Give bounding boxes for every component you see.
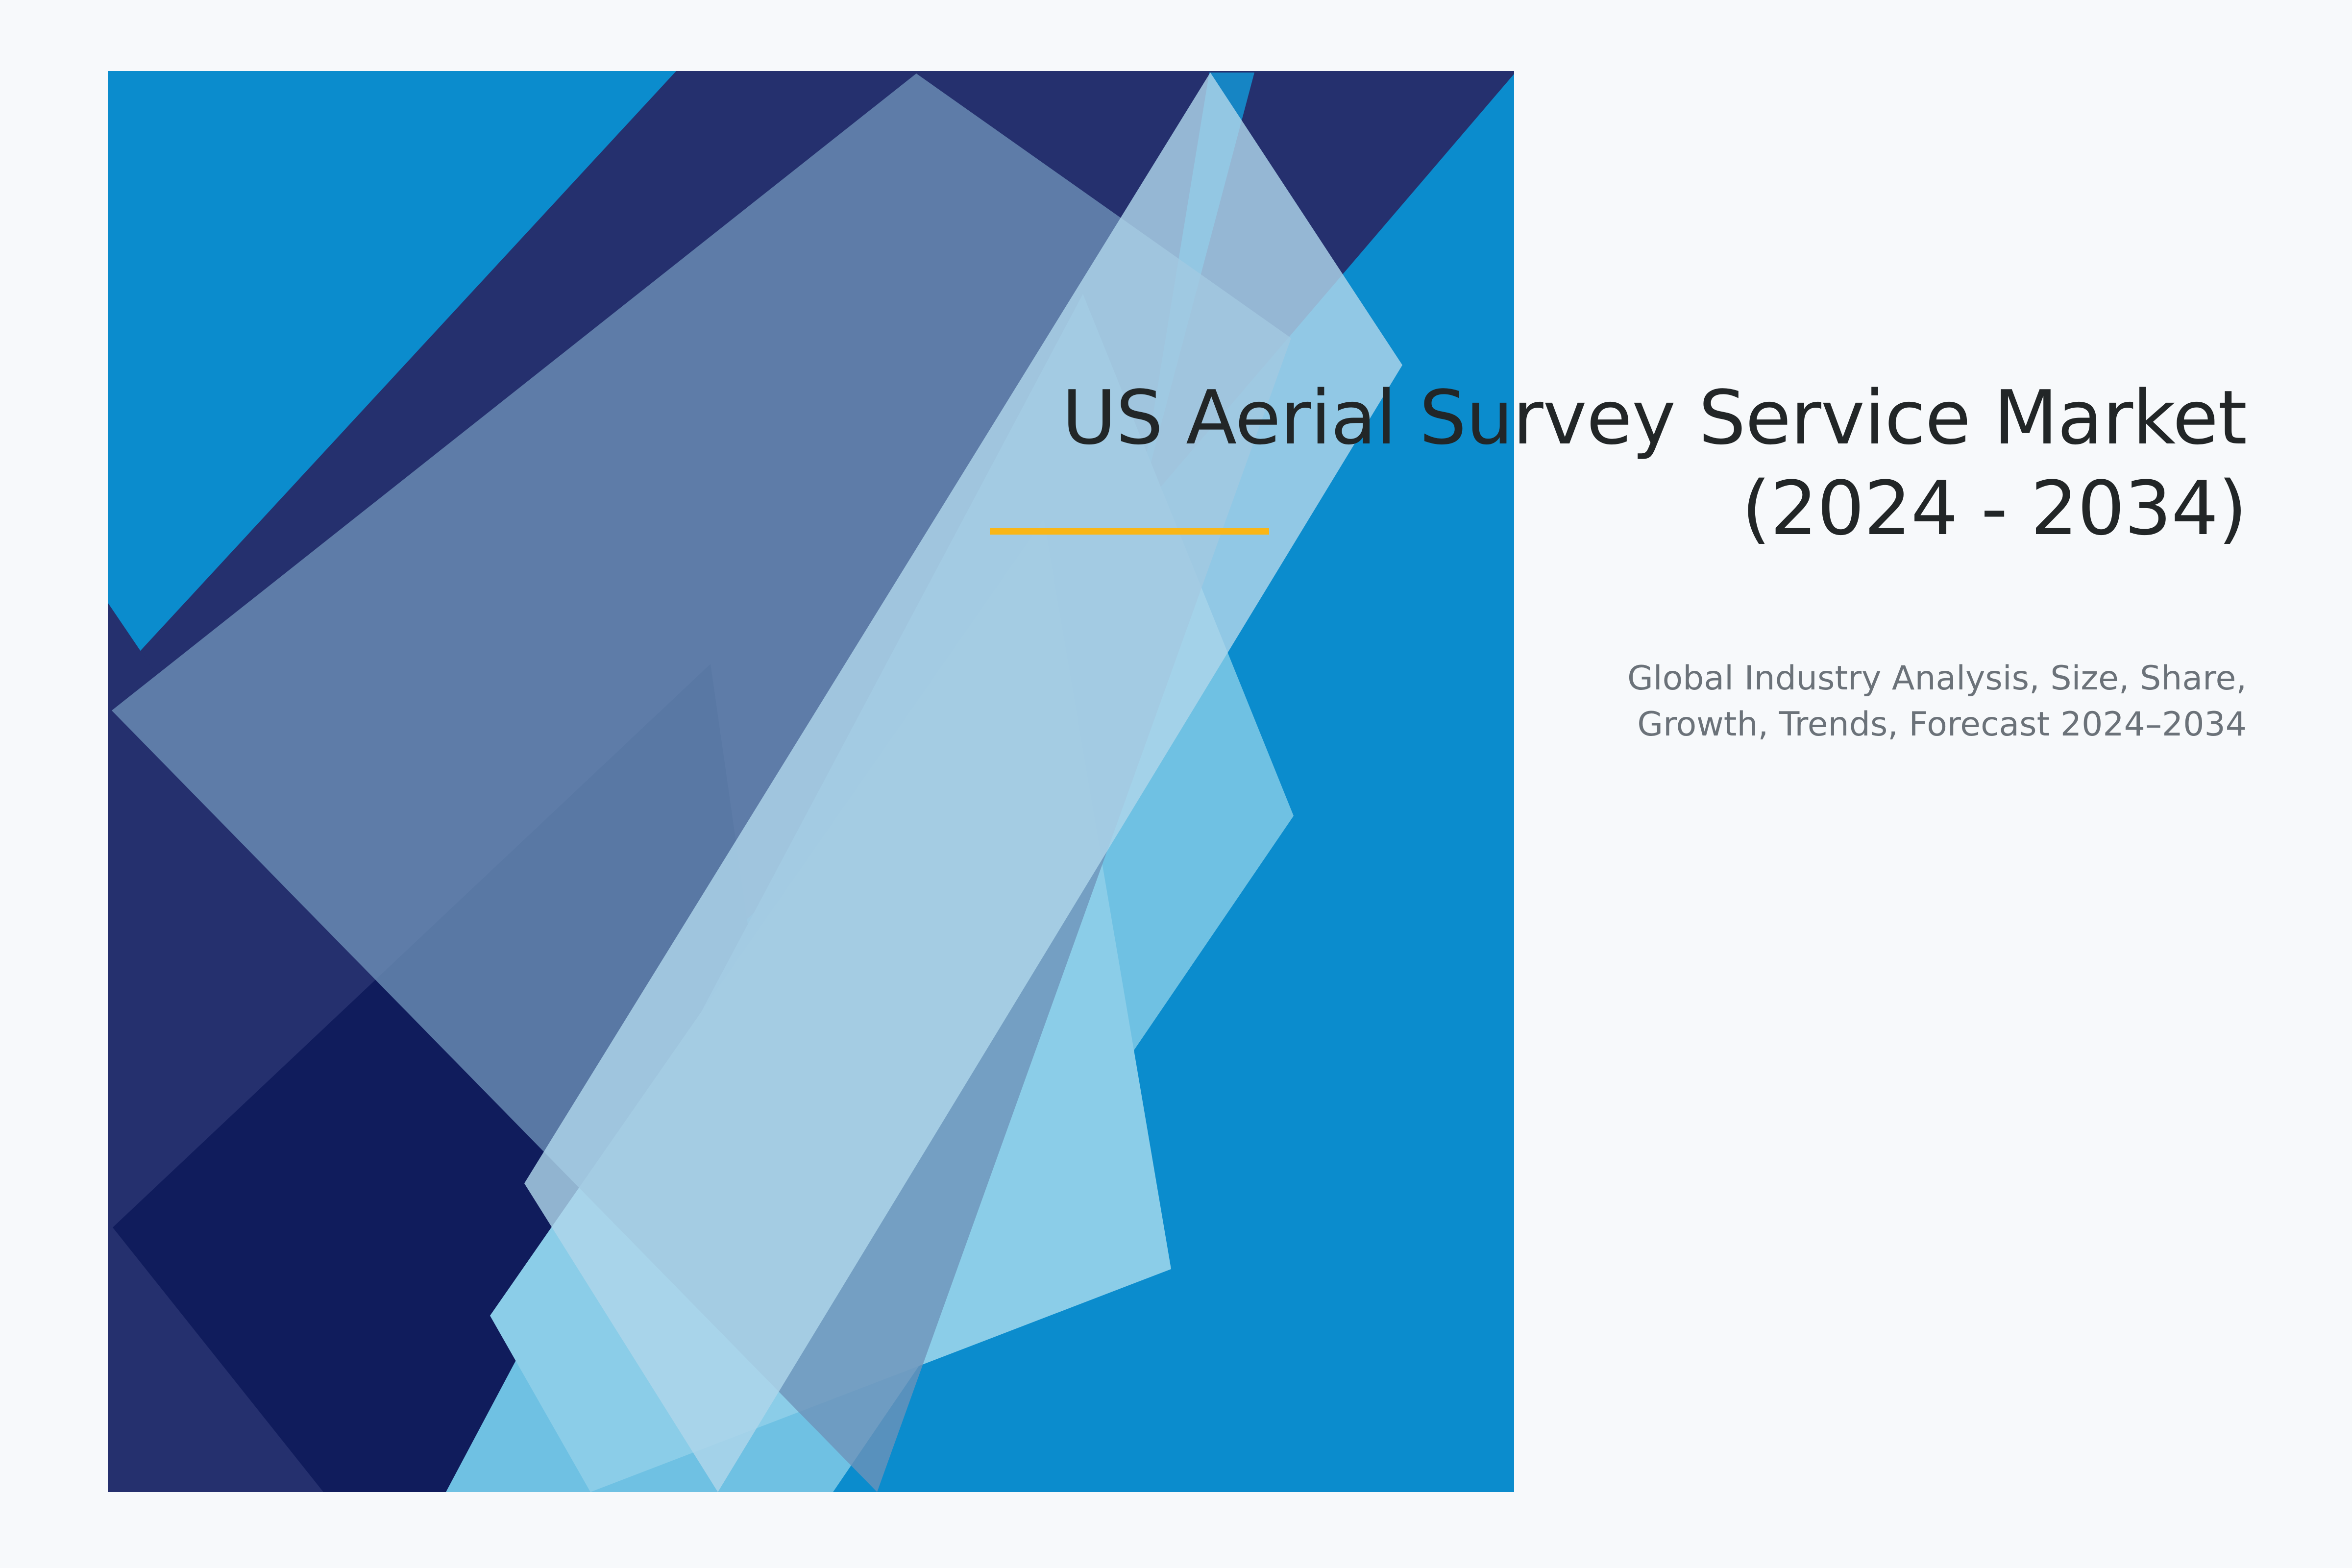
page-title: US Aerial Survey Service Market (2024 - …	[980, 372, 2247, 554]
abstract-geometric-artwork	[0, 0, 2352, 1568]
cover-page: US Aerial Survey Service Market (2024 - …	[0, 0, 2352, 1568]
page-subtitle: Global Industry Analysis, Size, Share, G…	[1323, 656, 2247, 748]
cover-text-block: US Aerial Survey Service Market (2024 - …	[980, 372, 2247, 554]
title-accent-underline	[990, 528, 1269, 535]
